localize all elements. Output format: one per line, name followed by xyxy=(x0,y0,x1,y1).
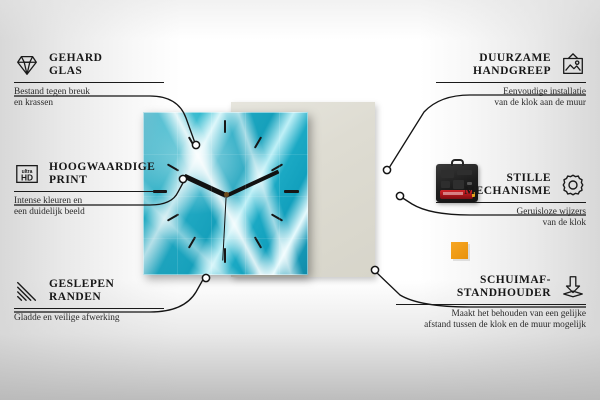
clock-hand-second xyxy=(222,195,227,261)
clock-tick xyxy=(188,236,196,248)
foam-spacer xyxy=(451,242,468,259)
feature-divider xyxy=(14,308,164,309)
diamond-icon xyxy=(14,52,40,78)
feature-geslepen-randen[interactable]: GESLEPEN RANDEN Gladde en veilige afwerk… xyxy=(14,278,164,324)
feature-title: DUURZAME HANDGREEP xyxy=(473,52,551,78)
feature-description: Eenvoudige installatie van de klok aan d… xyxy=(436,87,586,109)
clock-tick xyxy=(188,136,196,148)
feature-header: ultra HD HOOGWAARDIGE PRINT xyxy=(14,161,164,187)
feature-description: Geruisloze wijzers van de klok xyxy=(436,207,586,229)
clock-hand-minute xyxy=(225,169,279,197)
feature-schuimafstandhouder[interactable]: SCHUIMAF- STANDHOUDER Maakt het behouden… xyxy=(396,274,586,331)
svg-text:HD: HD xyxy=(21,173,33,183)
feature-description: Gladde en veilige afwerking xyxy=(14,313,164,324)
feature-divider xyxy=(396,304,586,305)
feature-header: DUURZAME HANDGREEP xyxy=(436,52,586,78)
gear-icon xyxy=(560,172,586,198)
infographic-canvas: GEHARD GLAS Bestand tegen breuk en krass… xyxy=(0,0,600,400)
clock-hand-hub xyxy=(224,192,229,197)
feature-description: Maakt het behouden van een gelijke afsta… xyxy=(396,309,586,331)
clock-tick xyxy=(167,213,179,221)
feature-gehard-glas[interactable]: GEHARD GLAS Bestand tegen breuk en krass… xyxy=(14,52,164,109)
clock-tick xyxy=(167,163,179,171)
clock-tick xyxy=(271,213,283,221)
feature-divider xyxy=(14,82,164,83)
feature-header: GEHARD GLAS xyxy=(14,52,164,78)
feature-hoogwaardige-print[interactable]: ultra HD HOOGWAARDIGE PRINT Intense kleu… xyxy=(14,161,164,218)
background-vignette-top xyxy=(0,0,600,40)
clock-tick xyxy=(271,163,283,171)
feature-stille-mechanisme[interactable]: STILLE MECHANISME Geruisloze wijzers van… xyxy=(436,172,586,229)
feature-divider xyxy=(436,82,586,83)
mechanism-hanger xyxy=(451,159,464,166)
feature-title: GESLEPEN RANDEN xyxy=(49,278,114,304)
feature-title: GEHARD GLAS xyxy=(49,52,102,78)
clock-tick xyxy=(284,190,299,193)
feature-header: STILLE MECHANISME xyxy=(436,172,586,198)
clock-tick xyxy=(254,136,262,148)
product-photo xyxy=(143,112,375,280)
feature-description: Bestand tegen breuk en krassen xyxy=(14,87,164,109)
feature-duurzame-handgreep[interactable]: DUURZAME HANDGREEP Eenvoudige installati… xyxy=(436,52,586,109)
picture-hanger-icon xyxy=(560,52,586,78)
clock-hand-hour xyxy=(183,174,227,198)
feature-divider xyxy=(436,202,586,203)
glass-clock-face xyxy=(143,112,308,275)
ultra-hd-icon: ultra HD xyxy=(14,161,40,187)
feature-header: GESLEPEN RANDEN xyxy=(14,278,164,304)
feature-description: Intense kleuren en een duidelijk beeld xyxy=(14,196,164,218)
feature-title: STILLE MECHANISME xyxy=(464,172,551,198)
spacer-arrow-icon xyxy=(560,274,586,300)
feature-title: SCHUIMAF- STANDHOUDER xyxy=(457,274,551,300)
clock-tick xyxy=(254,236,262,248)
beveled-edges-icon xyxy=(14,278,40,304)
clock-tick xyxy=(224,120,226,133)
feature-divider xyxy=(14,191,164,192)
feature-header: SCHUIMAF- STANDHOUDER xyxy=(396,274,586,300)
feature-title: HOOGWAARDIGE PRINT xyxy=(49,161,155,187)
clock-tick xyxy=(224,248,226,263)
